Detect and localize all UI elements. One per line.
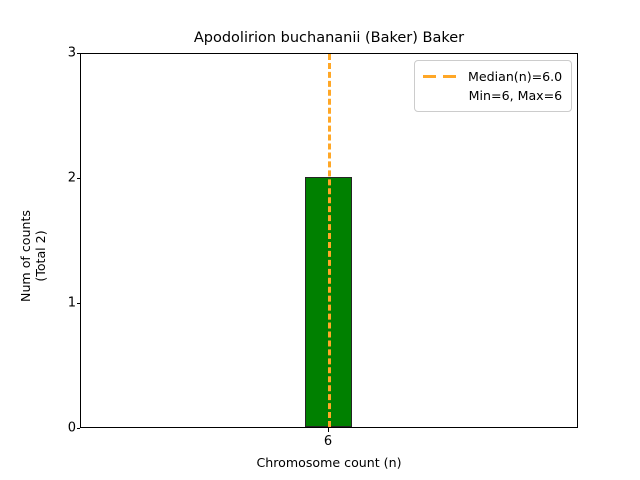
y-axis-label-line2: (Total 2) <box>33 161 48 351</box>
chart-title: Apodolirion buchananii (Baker) Baker <box>80 30 578 46</box>
xtick-label-6: 6 <box>324 434 332 449</box>
median-line <box>328 54 331 427</box>
chart-legend: Median(n)=6.0 Min=6, Max=6 <box>414 60 572 112</box>
y-axis-label-line1: Num of counts <box>18 161 33 351</box>
ytick-label-3: 3 <box>0 46 82 61</box>
dashed-line-icon <box>423 75 459 78</box>
x-axis-label: Chromosome count (n) <box>80 455 578 470</box>
legend-label-median: Median(n)=6.0 <box>468 69 562 84</box>
ytick-label-0: 0 <box>0 421 82 436</box>
legend-label-minmax: Min=6, Max=6 <box>469 88 563 103</box>
legend-row-minmax: Min=6, Max=6 <box>423 86 562 105</box>
chart-figure: Apodolirion buchananii (Baker) Baker 0 1… <box>0 0 640 480</box>
ytick-mark-0 <box>77 428 81 429</box>
xtick-mark-6 <box>328 428 329 432</box>
legend-row-median: Median(n)=6.0 <box>423 67 562 86</box>
y-axis-label: Num of counts (Total 2) <box>18 161 48 351</box>
